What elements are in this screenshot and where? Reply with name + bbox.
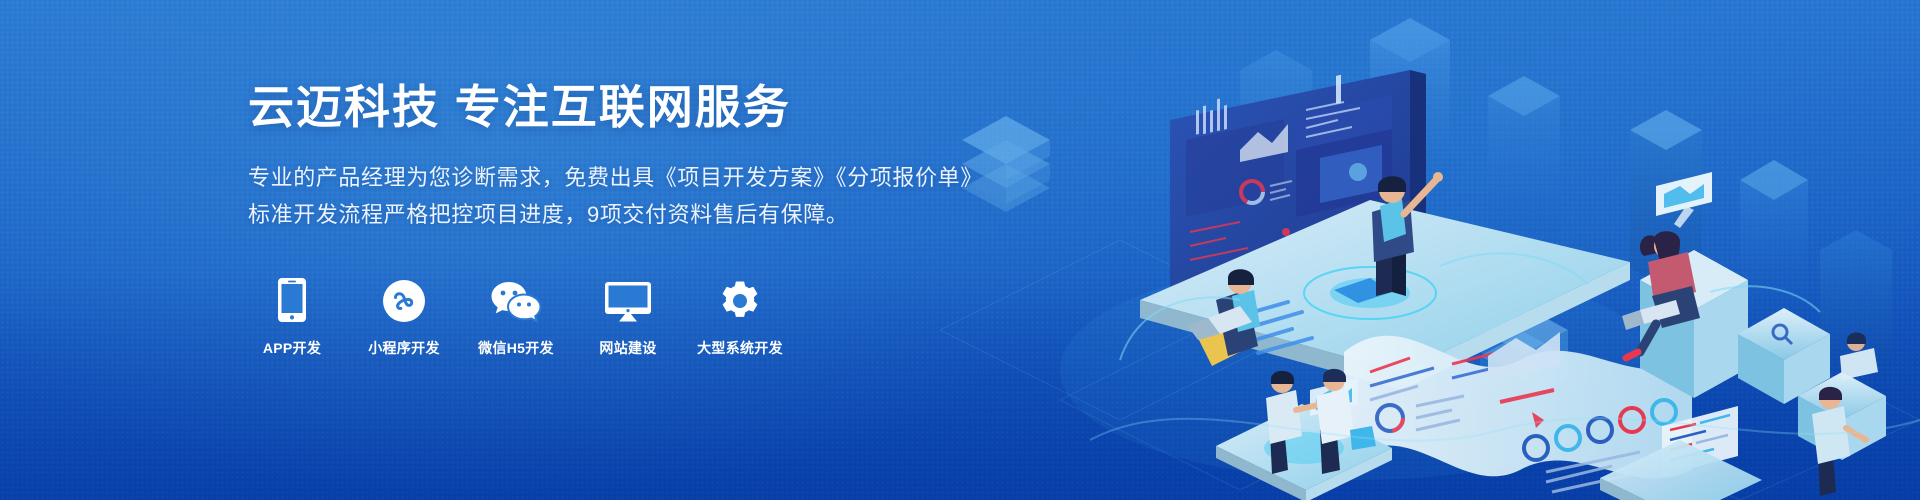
service-item-app[interactable]: APP开发 [248, 276, 336, 358]
isometric-tech-city-illustration [940, 0, 1920, 500]
mobile-phone-icon [278, 276, 306, 322]
subtitle-line-1: 专业的产品经理为您诊断需求，免费出具《项目开发方案》《分项报价单》 [248, 159, 1008, 197]
service-label: 小程序开发 [368, 338, 440, 358]
page-title: 云迈科技 专注互联网服务 [248, 82, 1008, 133]
service-list: APP开发 小程序开发 [248, 276, 1008, 358]
monitor-icon [605, 276, 651, 322]
service-label: APP开发 [263, 338, 321, 358]
hero-banner: 云迈科技 专注互联网服务 专业的产品经理为您诊断需求，免费出具《项目开发方案》《… [0, 0, 1920, 500]
service-item-large-system[interactable]: 大型系统开发 [696, 276, 784, 358]
service-label: 网站建设 [599, 338, 656, 358]
wechat-icon [491, 276, 541, 322]
service-label: 微信H5开发 [478, 338, 554, 358]
service-item-wechat-h5[interactable]: 微信H5开发 [472, 276, 560, 358]
hero-content: 云迈科技 专注互联网服务 专业的产品经理为您诊断需求，免费出具《项目开发方案》《… [248, 0, 1008, 500]
service-label: 大型系统开发 [697, 338, 783, 358]
subtitle-line-2: 标准开发流程严格把控项目进度，9项交付资料售后有保障。 [248, 196, 1008, 234]
service-item-mini-program[interactable]: 小程序开发 [360, 276, 448, 358]
service-item-website[interactable]: 网站建设 [584, 276, 672, 358]
subtitle-block: 专业的产品经理为您诊断需求，免费出具《项目开发方案》《分项报价单》 标准开发流程… [248, 159, 1008, 235]
gear-icon [719, 276, 761, 322]
mini-program-icon [383, 276, 425, 322]
